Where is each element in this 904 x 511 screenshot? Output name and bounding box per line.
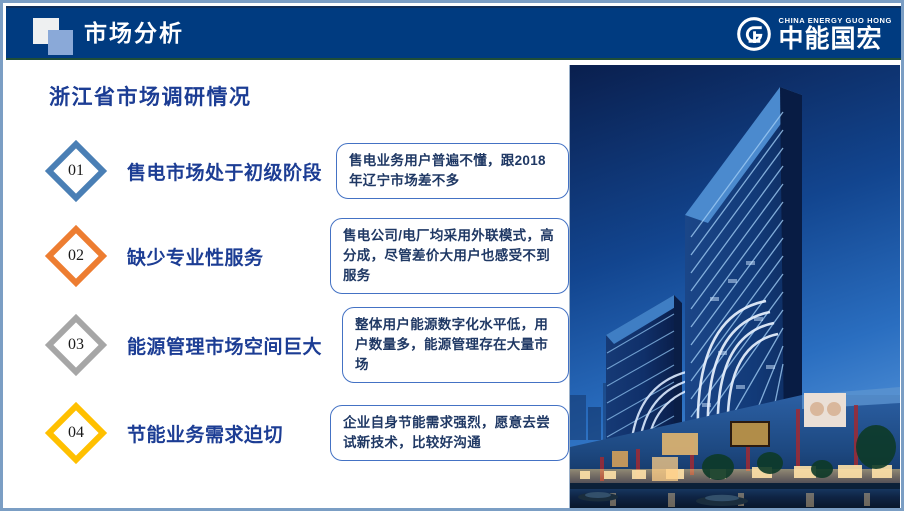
list-item: 02 缺少专业性服务 售电公司/电厂均采用外联模式，高分成，尽管差价大用户也感受… (39, 216, 569, 296)
item-label: 售电市场处于初级阶段 (127, 158, 332, 185)
logo-chinese-name: 中能国宏 (779, 26, 892, 53)
item-number: 03 (68, 337, 84, 353)
item-label: 缺少专业性服务 (127, 243, 332, 270)
item-label: 能源管理市场空间巨大 (127, 332, 332, 359)
item-callout: 企业自身节能需求强烈，愿意去尝试新技术，比较好沟通 (330, 405, 569, 461)
diamond-badge-02: 02 (39, 221, 113, 291)
page-title: 市场分析 (84, 17, 184, 49)
circle-g-logo-icon (736, 16, 772, 52)
logo-text: CHINA ENERGY GUO HONG 中能国宏 (779, 16, 892, 53)
item-label: 节能业务需求迫切 (127, 420, 332, 447)
diamond-badge-04: 04 (39, 398, 113, 468)
diamond-badge-03: 03 (39, 310, 113, 380)
list-item: 01 售电市场处于初级阶段 售电业务用户普遍不懂，跟2018年辽宁市场差不多 (39, 131, 569, 211)
item-callout: 售电业务用户普遍不懂，跟2018年辽宁市场差不多 (336, 143, 569, 199)
blue-glass-towers-commercial-complex-photo (569, 65, 900, 509)
item-number: 02 (68, 248, 84, 264)
header-accent-line (6, 6, 904, 8)
company-logo: CHINA ENERGY GUO HONG 中能国宏 (736, 14, 892, 54)
list-item: 04 节能业务需求迫切 企业自身节能需求强烈，愿意去尝试新技术，比较好沟通 (39, 393, 569, 473)
section-title: 浙江省市场调研情况 (49, 81, 252, 111)
item-callout: 售电公司/电厂均采用外联模式，高分成，尽管差价大用户也感受不到服务 (330, 218, 569, 294)
list-item: 03 能源管理市场空间巨大 整体用户能源数字化水平低，用户数量多，能源管理存在大… (39, 305, 569, 385)
logo-english-name: CHINA ENERGY GUO HONG (779, 16, 892, 26)
slide-header: 市场分析 CHINA ENERGY GUO HONG 中能国宏 (6, 6, 904, 60)
item-number: 01 (68, 163, 84, 179)
diamond-badge-01: 01 (39, 136, 113, 206)
slide: 市场分析 CHINA ENERGY GUO HONG 中能国宏 浙江省市场调研情… (0, 0, 904, 511)
item-callout: 整体用户能源数字化水平低，用户数量多，能源管理存在大量市场 (342, 307, 569, 383)
item-number: 04 (68, 425, 84, 441)
square-blue-icon (48, 30, 73, 55)
